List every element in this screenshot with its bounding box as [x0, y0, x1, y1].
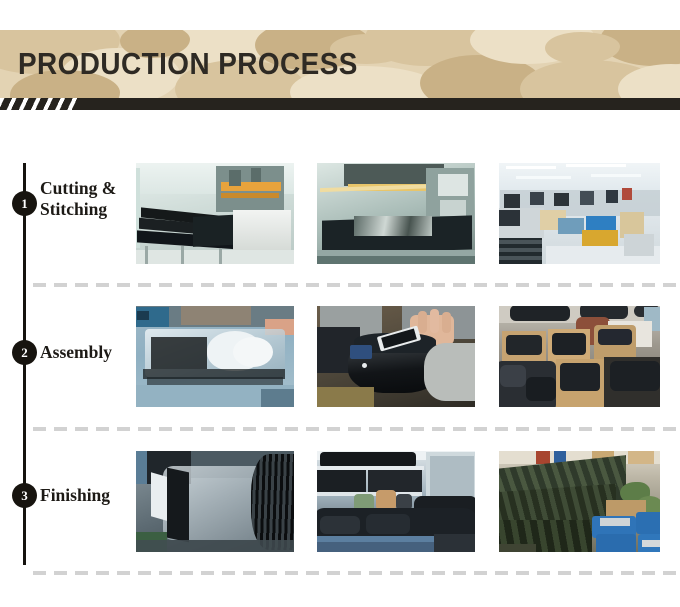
photo-cutting-machine-line[interactable] — [133, 160, 297, 267]
photo-parts-boxes[interactable] — [496, 303, 663, 410]
row-divider-2 — [33, 427, 680, 431]
header-bottom-bar — [0, 98, 680, 110]
step-marker-2: 2 — [12, 340, 37, 365]
row-divider-3 — [33, 571, 680, 575]
photo-shield-parts-table[interactable] — [133, 303, 297, 410]
photo-stitching-workshop[interactable] — [496, 160, 663, 267]
production-process-page: PRODUCTION PROCESS 1 Cutting & Stitching… — [0, 0, 680, 607]
photo-packing-workshop[interactable] — [314, 448, 478, 555]
step-marker-3: 3 — [12, 483, 37, 508]
photo-heat-press-machine[interactable] — [314, 160, 478, 267]
row-divider-1 — [33, 283, 680, 287]
page-title: PRODUCTION PROCESS — [18, 30, 594, 98]
diagonal-stripes-accent — [0, 98, 78, 110]
step-marker-1: 1 — [12, 191, 37, 216]
photo-helmet-inventory[interactable] — [496, 448, 663, 555]
photo-wrapped-police-shield[interactable] — [133, 448, 297, 555]
step-label-assembly: Assembly — [40, 342, 112, 363]
step-label-finishing: Finishing — [40, 485, 110, 506]
step-label-cutting-stitching: Cutting & Stitching — [40, 178, 116, 220]
photo-police-helmet-assembly[interactable] — [314, 303, 478, 410]
